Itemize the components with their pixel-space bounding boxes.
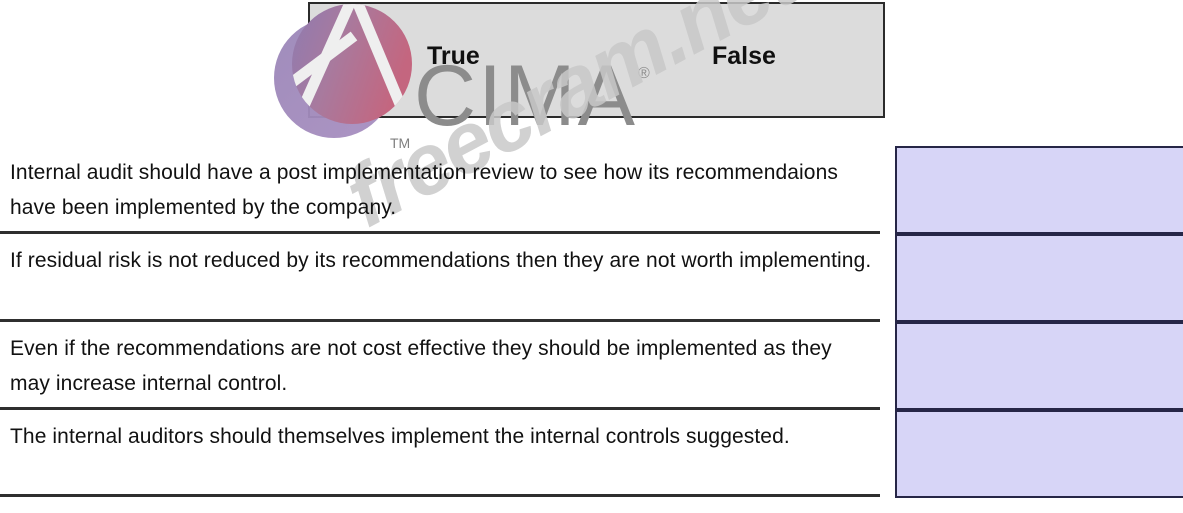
answer-box-1[interactable] [895,146,1183,234]
statement-text: Even if the recommendations are not cost… [10,331,874,401]
column-header-false: False [712,42,776,71]
statement-text: Internal audit should have a post implem… [10,155,874,225]
answer-box-3[interactable] [895,322,1183,410]
table-row: Even if the recommendations are not cost… [0,322,880,410]
true-false-header-bar: True False [308,2,885,118]
answer-box-2[interactable] [895,234,1183,322]
column-header-true: True [427,42,480,71]
table-row: If residual risk is not reduced by its r… [0,234,880,322]
statement-text: The internal auditors should themselves … [10,419,874,454]
table-row: Internal audit should have a post implem… [0,146,880,234]
statement-list: Internal audit should have a post implem… [0,146,880,497]
table-row: The internal auditors should themselves … [0,410,880,497]
statement-text: If residual risk is not reduced by its r… [10,243,874,278]
exam-question-screen: True False [0,0,1183,513]
answer-box-4[interactable] [895,410,1183,498]
answer-box-column [895,146,1183,498]
